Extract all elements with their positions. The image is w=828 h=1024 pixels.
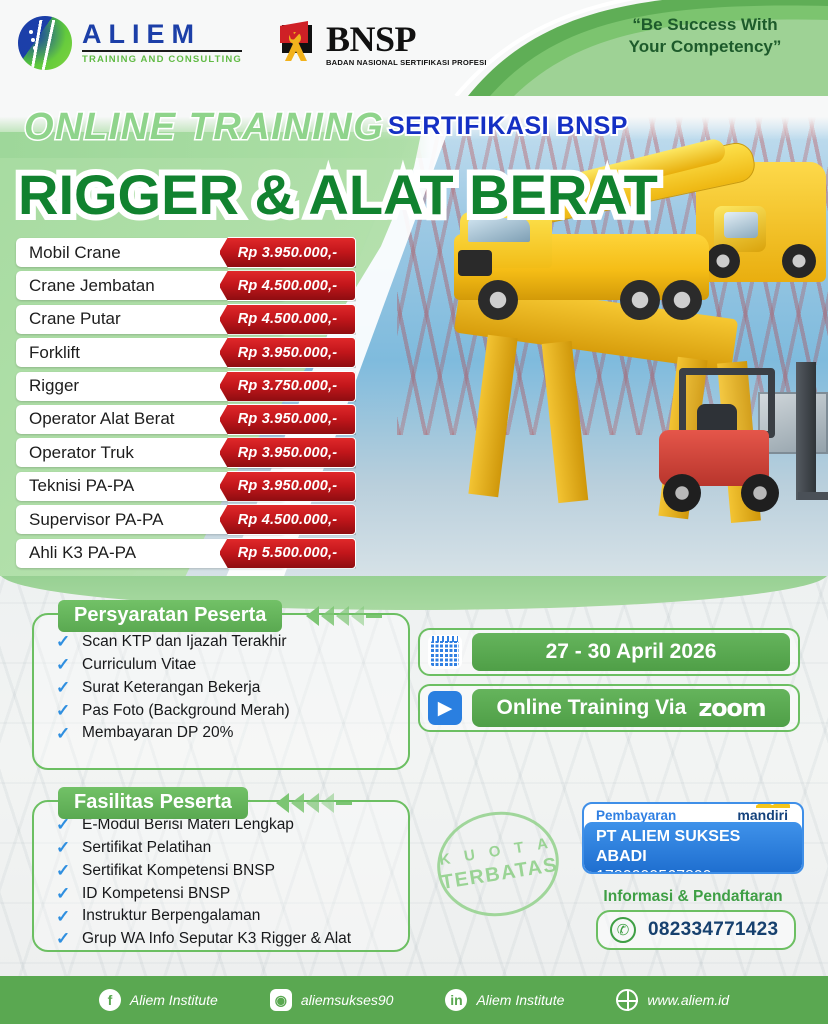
- price-row: Supervisor PA-PA Rp 4.500.000,-: [16, 505, 356, 534]
- aliem-logo: ALIEM TRAINING AND CONSULTING: [18, 16, 242, 70]
- social-linkedin[interactable]: in Aliem Institute: [445, 989, 564, 1011]
- list-item-label: Curriculum Vitae: [82, 656, 196, 673]
- zoom-wordmark: zoom: [698, 694, 765, 722]
- list-item-label: Sertifikat Kompetensi BNSP: [82, 862, 275, 879]
- checkmark-icon: ✓: [284, 17, 317, 47]
- price-row: Rigger Rp 3.750.000,-: [16, 372, 356, 401]
- poster-header: ALIEM TRAINING AND CONSULTING ✓ BNSP BAD…: [0, 0, 828, 96]
- price-item-amount: Rp 3.950.000,-: [219, 337, 356, 368]
- list-item: ✓ Curriculum Vitae: [56, 656, 398, 673]
- social-label: www.aliem.id: [647, 992, 729, 1008]
- bnsp-mark-icon: ✓: [278, 19, 322, 67]
- price-item-amount: Rp 3.950.000,-: [219, 471, 356, 502]
- price-item-amount: Rp 3.950.000,-: [219, 237, 356, 268]
- logo-group: ALIEM TRAINING AND CONSULTING ✓ BNSP BAD…: [18, 16, 487, 70]
- check-icon: ✓: [56, 930, 72, 947]
- price-item-amount: Rp 4.500.000,-: [219, 270, 356, 301]
- aliem-wordmark: ALIEM: [82, 21, 242, 48]
- check-icon: ✓: [56, 679, 72, 696]
- website-icon: [616, 989, 638, 1011]
- aliem-rule: [82, 50, 242, 52]
- price-row: Operator Alat Berat Rp 3.950.000,-: [16, 405, 356, 434]
- list-item: ✓ Pas Foto (Background Merah): [56, 702, 398, 719]
- calendar-icon: [428, 635, 462, 669]
- price-item-amount: Rp 3.950.000,-: [219, 437, 356, 468]
- price-list: Mobil Crane Rp 3.950.000,- Crane Jembata…: [16, 238, 356, 572]
- list-item-label: ID Kompetensi BNSP: [82, 885, 230, 902]
- payment-label: Pembayaran: [596, 808, 676, 823]
- linkedin-icon: in: [445, 989, 467, 1011]
- aliem-tagline: TRAINING AND CONSULTING: [82, 55, 242, 65]
- contact-heading: Informasi & Pendaftaran: [582, 888, 804, 906]
- list-item: ✓ Surat Keterangan Bekerja: [56, 679, 398, 696]
- bnsp-tagline: BADAN NASIONAL SERTIFIKASI PROFESI: [326, 59, 487, 67]
- check-icon: ✓: [56, 702, 72, 719]
- tagline-line-2: Your Competency”: [600, 36, 810, 58]
- training-platform-body: Online Training Via zoom: [472, 689, 790, 727]
- price-item-amount: Rp 3.950.000,-: [219, 404, 356, 435]
- price-row: Forklift Rp 3.950.000,-: [16, 338, 356, 367]
- list-item: ✓ Scan KTP dan Ijazah Terakhir: [56, 633, 398, 650]
- list-item-label: Sertifikat Pelatihan: [82, 839, 211, 856]
- fasilitas-arrow-decoration: [276, 793, 352, 813]
- list-item-label: Scan KTP dan Ijazah Terakhir: [82, 633, 287, 650]
- social-label: aliemsukses90: [301, 992, 394, 1008]
- training-platform-pill: ▶ Online Training Via zoom: [418, 684, 800, 732]
- social-label: Aliem Institute: [476, 992, 564, 1008]
- chevron-left-icon: [306, 793, 319, 813]
- persyaratan-list: ✓ Scan KTP dan Ijazah Terakhir ✓ Curricu…: [56, 633, 398, 747]
- whatsapp-icon: ✆: [610, 917, 636, 943]
- social-facebook[interactable]: f Aliem Institute: [99, 989, 218, 1011]
- whatsapp-contact[interactable]: ✆ 082334771423: [596, 910, 796, 950]
- price-item-amount: Rp 4.500.000,-: [219, 304, 356, 335]
- list-item-label: Membayaran DP 20%: [82, 724, 233, 741]
- instagram-icon: ◉: [270, 989, 292, 1011]
- price-item-amount: Rp 4.500.000,-: [219, 504, 356, 535]
- list-item: ✓ Grup WA Info Seputar K3 Rigger & Alat: [56, 930, 398, 947]
- fasilitas-title: Fasilitas Peserta: [58, 787, 248, 819]
- payment-account-bar: PT ALIEM SUKSES ABADI 1780099567899: [584, 822, 802, 872]
- hero-title: RIGGER & ALAT BERAT: [18, 162, 658, 227]
- mandiri-logo: mandiri: [737, 807, 790, 823]
- list-item: ✓ Sertifikat Kompetensi BNSP: [56, 862, 398, 879]
- aliem-mark-icon: [18, 16, 72, 70]
- social-label: Aliem Institute: [130, 992, 218, 1008]
- list-item: ✓ Membayaran DP 20%: [56, 724, 398, 741]
- tagline-line-1: “Be Success With: [600, 14, 810, 36]
- fasilitas-card: ✓ E-Modul Berisi Materi Lengkap ✓ Sertif…: [32, 800, 410, 952]
- persyaratan-title: Persyaratan Peserta: [58, 600, 282, 632]
- chevron-left-icon: [321, 606, 334, 626]
- social-website[interactable]: www.aliem.id: [616, 989, 729, 1011]
- list-item-label: Pas Foto (Background Merah): [82, 702, 290, 719]
- check-icon: ✓: [56, 633, 72, 650]
- social-instagram[interactable]: ◉ aliemsukses90: [270, 989, 394, 1011]
- price-row: Ahli K3 PA-PA Rp 5.500.000,-: [16, 539, 356, 568]
- whatsapp-number: 082334771423: [648, 919, 778, 941]
- chevron-left-icon: [291, 793, 304, 813]
- list-item-label: Surat Keterangan Bekerja: [82, 679, 260, 696]
- check-icon: ✓: [56, 656, 72, 673]
- chevron-left-icon: [336, 606, 349, 626]
- persyaratan-card: ✓ Scan KTP dan Ijazah Terakhir ✓ Curricu…: [32, 613, 410, 770]
- price-row: Mobil Crane Rp 3.950.000,-: [16, 238, 356, 267]
- check-icon: ✓: [56, 862, 72, 879]
- check-icon: ✓: [56, 725, 72, 742]
- forklift-illustration: [649, 358, 828, 518]
- certification-badge: SERTIFIKASI BNSP: [388, 112, 628, 141]
- check-icon: ✓: [56, 908, 72, 925]
- chevron-left-icon: [351, 606, 364, 626]
- list-item: ✓ Sertifikat Pelatihan: [56, 839, 398, 856]
- price-row: Operator Truk Rp 3.950.000,-: [16, 438, 356, 467]
- price-row: Crane Putar Rp 4.500.000,-: [16, 305, 356, 334]
- list-item-label: Instruktur Berpengalaman: [82, 907, 260, 924]
- video-camera-icon: ▶: [428, 691, 462, 725]
- chevron-left-icon: [321, 793, 334, 813]
- chevron-left-icon: [276, 793, 289, 813]
- bnsp-wordmark: BNSP: [326, 21, 487, 57]
- list-item-label: Grup WA Info Seputar K3 Rigger & Alat: [82, 930, 351, 947]
- check-icon: ✓: [56, 885, 72, 902]
- promotional-poster: ALIEM TRAINING AND CONSULTING ✓ BNSP BAD…: [0, 0, 828, 1024]
- price-item-amount: Rp 5.500.000,-: [219, 538, 356, 569]
- list-item: ✓ Instruktur Berpengalaman: [56, 907, 398, 924]
- account-number: 1780099567899: [596, 867, 790, 874]
- check-icon: ✓: [56, 839, 72, 856]
- bnsp-logo: ✓ BNSP BADAN NASIONAL SERTIFIKASI PROFES…: [278, 19, 487, 67]
- list-item: ✓ ID Kompetensi BNSP: [56, 885, 398, 902]
- account-holder-name: PT ALIEM SUKSES ABADI: [596, 827, 790, 867]
- facebook-icon: f: [99, 989, 121, 1011]
- payment-box: Pembayaran mandiri PT ALIEM SUKSES ABADI…: [582, 802, 804, 874]
- platform-label: Online Training Via: [497, 696, 687, 720]
- chevron-left-icon: [306, 606, 319, 626]
- fasilitas-list: ✓ E-Modul Berisi Materi Lengkap ✓ Sertif…: [56, 816, 398, 953]
- persyaratan-arrow-decoration: [306, 606, 382, 626]
- price-row: Teknisi PA-PA Rp 3.950.000,-: [16, 472, 356, 501]
- price-row: Crane Jembatan Rp 4.500.000,-: [16, 271, 356, 300]
- training-date-value: 27 - 30 April 2026: [472, 633, 790, 671]
- price-item-amount: Rp 3.750.000,-: [219, 371, 356, 402]
- social-footer: f Aliem Institute ◉ aliemsukses90 in Ali…: [0, 976, 828, 1024]
- company-tagline: “Be Success With Your Competency”: [600, 14, 810, 58]
- aliem-dots-icon: [29, 30, 37, 54]
- training-date-pill: 27 - 30 April 2026: [418, 628, 800, 676]
- hero-eyebrow: ONLINE TRAINING: [24, 106, 384, 149]
